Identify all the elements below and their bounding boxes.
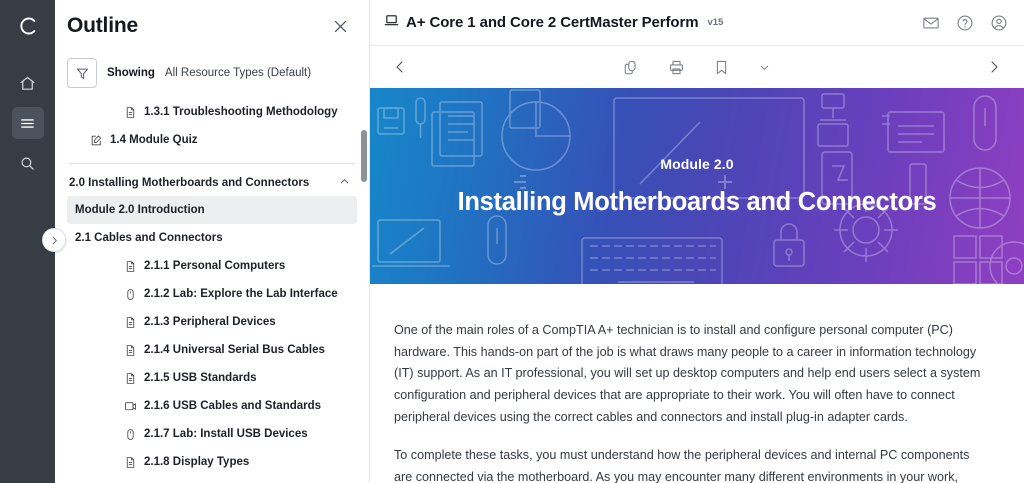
list-item-label: 1.3.1 Troubleshooting Methodology <box>144 106 338 118</box>
main-content: A+ Core 1 and Core 2 CertMaster Perform … <box>370 0 1024 483</box>
close-icon <box>332 18 349 35</box>
filter-row: Showing All Resource Types (Default) <box>55 52 369 98</box>
list-item-label: 1.4 Module Quiz <box>110 134 198 146</box>
document-icon <box>123 343 137 357</box>
user-circle-icon <box>990 14 1008 32</box>
list-item[interactable]: 1.3.1 Troubleshooting Methodology <box>67 98 357 126</box>
paragraph: To complete these tasks, you must unders… <box>394 445 990 483</box>
list-item[interactable]: 2.1.3 Peripheral Devices <box>67 308 357 336</box>
document-toolbar <box>370 46 1024 88</box>
document-icon <box>123 315 137 329</box>
chevron-right-icon <box>986 59 1002 75</box>
search-icon <box>19 155 36 172</box>
chevron-left-icon <box>392 59 408 75</box>
toolbar-center-group <box>370 59 1024 76</box>
list-item[interactable]: 2.1.8 Display Types <box>67 448 357 476</box>
printer-icon <box>668 59 685 76</box>
filter-icon <box>75 66 90 81</box>
document-icon <box>123 371 137 385</box>
list-item[interactable]: 2.1.6 USB Cables and Standards <box>67 392 357 420</box>
document-icon <box>123 259 137 273</box>
chevron-right-icon <box>49 235 60 246</box>
list-item-selected[interactable]: Module 2.0 Introduction <box>67 196 357 224</box>
mail-button[interactable] <box>922 14 940 32</box>
bookmark-icon <box>713 59 730 76</box>
top-bar-left: A+ Core 1 and Core 2 CertMaster Perform … <box>384 13 922 33</box>
mouse-icon <box>123 287 137 301</box>
list-item[interactable]: 2.1.2 Lab: Explore the Lab Interface <box>67 280 357 308</box>
sidebar-item-home[interactable] <box>12 67 44 99</box>
outline-scrollbar-thumb[interactable] <box>361 130 367 182</box>
quiz-icon <box>89 133 103 147</box>
list-item[interactable]: 1.4 Module Quiz <box>67 126 357 154</box>
list-item-label: 2.1.4 Universal Serial Bus Cables <box>144 344 325 356</box>
divider <box>69 163 355 164</box>
list-item-label: Module 2.0 Introduction <box>75 204 205 216</box>
app-title: A+ Core 1 and Core 2 CertMaster Perform <box>406 14 698 31</box>
c-logo-icon[interactable] <box>8 7 48 45</box>
list-item-label: 2.1.6 USB Cables and Standards <box>144 400 321 412</box>
list-item[interactable]: 2.1.5 USB Standards <box>67 364 357 392</box>
next-page-button[interactable] <box>986 59 1002 75</box>
top-bar: A+ Core 1 and Core 2 CertMaster Perform … <box>370 0 1024 46</box>
showing-value[interactable]: All Resource Types (Default) <box>165 67 311 79</box>
document-icon <box>123 105 137 119</box>
showing-label: Showing <box>107 67 155 79</box>
mouse-icon <box>123 427 137 441</box>
help-button[interactable] <box>956 14 974 32</box>
chevron-up-icon[interactable] <box>338 175 351 191</box>
sidebar-item-outline[interactable] <box>12 107 44 139</box>
home-icon <box>19 75 36 92</box>
sidebar-item-search[interactable] <box>12 147 44 179</box>
list-item[interactable]: 2.1.4 Universal Serial Bus Cables <box>67 336 357 364</box>
article-body: One of the main roles of a CompTIA A+ te… <box>370 284 1024 483</box>
list-item-label: 2.1.8 Display Types <box>144 456 249 468</box>
module-banner: Module 2.0 Installing Motherboards and C… <box>370 88 1024 284</box>
attach-button[interactable] <box>623 59 640 76</box>
list-item-label: 2.1.7 Lab: Install USB Devices <box>144 428 308 440</box>
laptop-icon <box>384 13 399 33</box>
list-item[interactable]: 2.1.1 Personal Computers <box>67 252 357 280</box>
previous-page-button[interactable] <box>392 59 408 75</box>
paragraph: One of the main roles of a CompTIA A+ te… <box>394 320 990 428</box>
list-item-label: 2.1.5 USB Standards <box>144 372 256 384</box>
page-title: Outline <box>67 14 329 38</box>
chevron-down-icon <box>758 61 771 74</box>
bookmark-menu-button[interactable] <box>758 61 771 74</box>
app-version-badge: v15 <box>707 17 723 28</box>
print-button[interactable] <box>668 59 685 76</box>
list-item-label: 2.1 Cables and Connectors <box>75 232 223 244</box>
envelope-icon <box>922 14 940 32</box>
filter-button[interactable] <box>67 58 97 88</box>
paperclip-icon <box>623 59 640 76</box>
close-outline-button[interactable] <box>329 15 351 37</box>
list-item-label: 2.1.2 Lab: Explore the Lab Interface <box>144 288 338 300</box>
account-button[interactable] <box>990 14 1008 32</box>
list-item[interactable]: 2.1.7 Lab: Install USB Devices <box>67 420 357 448</box>
banner-subtitle: Module 2.0 <box>660 156 733 172</box>
collapse-panel-button[interactable] <box>42 228 66 252</box>
bookmark-button[interactable] <box>713 59 730 76</box>
top-bar-actions <box>922 14 1008 32</box>
outline-section-header[interactable]: 2.0 Installing Motherboards and Connecto… <box>67 170 357 196</box>
outline-section-label: 2.0 Installing Motherboards and Connecto… <box>69 177 309 189</box>
app-root: Outline Showing All Resource Types (Defa… <box>0 0 1024 483</box>
outline-list: 1.3.1 Troubleshooting Methodology 1.4 Mo… <box>55 98 369 483</box>
list-item-label: 2.1.1 Personal Computers <box>144 260 285 272</box>
document-icon <box>123 455 137 469</box>
media-icon <box>123 399 137 413</box>
banner-pattern-icon <box>370 88 1024 284</box>
menu-icon <box>19 115 36 132</box>
list-item-label: 2.1.3 Peripheral Devices <box>144 316 276 328</box>
outline-header: Outline <box>55 0 369 52</box>
outline-panel: Outline Showing All Resource Types (Defa… <box>55 0 370 483</box>
banner-title: Installing Motherboards and Connectors <box>458 188 937 217</box>
question-circle-icon <box>956 14 974 32</box>
list-item[interactable]: 2.1 Cables and Connectors <box>67 224 357 252</box>
